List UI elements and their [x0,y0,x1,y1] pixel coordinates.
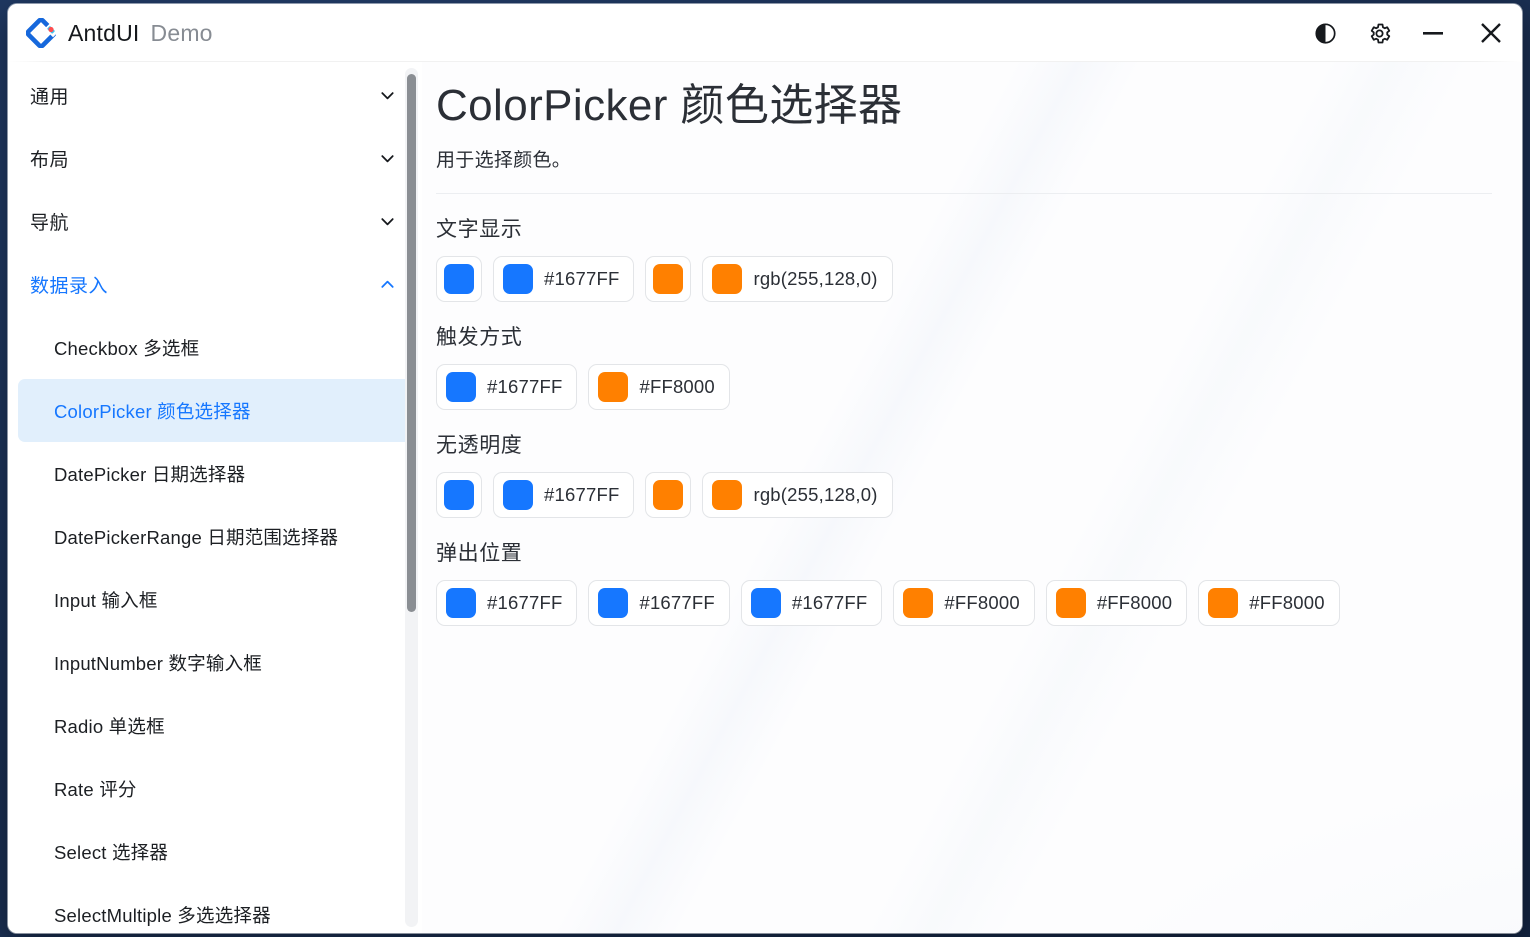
color-picker[interactable]: rgb(255,128,0) [702,256,892,302]
color-swatch [1208,588,1238,618]
color-picker[interactable]: #1677FF [741,580,882,626]
close-icon [1477,19,1505,47]
sidebar-item-9[interactable]: SelectMultiple 多选选择器 [18,883,412,933]
section-title: 文字显示 [436,213,1492,243]
gear-icon [1367,21,1392,46]
color-swatch [598,588,628,618]
sidebar-group-3[interactable]: 数据录入 [8,253,422,316]
color-swatch [503,264,533,294]
color-picker-row: #1677FFrgb(255,128,0) [436,256,1492,302]
sidebar-item-8[interactable]: Select 选择器 [18,820,412,883]
content-area: 通用布局导航数据录入Checkbox 多选框ColorPicker 颜色选择器D… [8,62,1522,933]
sidebar-item-label: InputNumber 数字输入框 [54,650,262,676]
sidebar-item-label: Checkbox 多选框 [54,335,199,361]
sidebar-group-label: 布局 [30,145,69,172]
chevron-down-icon[interactable] [379,213,396,230]
color-picker[interactable] [436,472,482,518]
color-swatch [653,480,683,510]
minimize-button[interactable] [1406,4,1460,62]
color-picker[interactable]: #1677FF [493,472,634,518]
page-title: ColorPicker 颜色选择器 [436,79,1492,133]
sidebar-item-4[interactable]: Input 输入框 [18,568,412,631]
sidebar-item-label: DatePicker 日期选择器 [54,461,245,487]
color-swatch [1056,588,1086,618]
color-picker[interactable]: #1677FF [436,580,577,626]
section-title: 弹出位置 [436,537,1492,567]
color-value-text: #1677FF [487,592,562,614]
color-picker[interactable]: rgb(255,128,0) [702,472,892,518]
color-swatch [903,588,933,618]
sidebar-scrollbar-track[interactable] [405,68,418,927]
sidebar-group-1[interactable]: 布局 [8,127,422,190]
color-picker-row: #1677FF#1677FF#1677FF#FF8000#FF8000#FF80… [436,580,1492,626]
chevron-down-icon[interactable] [379,87,396,104]
color-value-text: #1677FF [639,592,714,614]
title-bar: AntdUI Demo [8,4,1522,62]
sidebar-item-label: ColorPicker 颜色选择器 [54,398,251,424]
sidebar-item-label: Input 输入框 [54,587,158,613]
color-picker[interactable]: #FF8000 [1198,580,1339,626]
color-value-text: rgb(255,128,0) [753,484,877,506]
color-value-text: #1677FF [487,376,562,398]
main-panel: ColorPicker 颜色选择器 用于选择颜色。 文字显示#1677FFrgb… [422,62,1522,933]
section-title: 触发方式 [436,321,1492,351]
sidebar-item-label: Rate 评分 [54,776,137,802]
color-value-text: #1677FF [792,592,867,614]
sidebar-item-6[interactable]: Radio 单选框 [18,694,412,757]
color-picker[interactable]: #1677FF [436,364,577,410]
header-divider [436,193,1492,194]
sidebar-group-label: 通用 [30,82,69,109]
contrast-circle-icon [1314,22,1337,45]
color-swatch [598,372,628,402]
app-name: AntdUI [68,20,140,47]
sidebar-item-0[interactable]: Checkbox 多选框 [18,316,412,379]
sidebar-item-label: Radio 单选框 [54,713,165,739]
color-value-text: #1677FF [544,268,619,290]
color-picker[interactable]: #FF8000 [588,364,729,410]
sidebar-item-5[interactable]: InputNumber 数字输入框 [18,631,412,694]
close-button[interactable] [1460,4,1522,62]
window-controls [1298,4,1522,62]
sidebar-item-7[interactable]: Rate 评分 [18,757,412,820]
color-picker-row: #1677FF#FF8000 [436,364,1492,410]
color-swatch [712,264,742,294]
color-value-text: rgb(255,128,0) [753,268,877,290]
color-value-text: #FF8000 [639,376,714,398]
section-title: 无透明度 [436,429,1492,459]
color-swatch [444,480,474,510]
sidebar: 通用布局导航数据录入Checkbox 多选框ColorPicker 颜色选择器D… [8,62,422,933]
color-picker[interactable]: #FF8000 [893,580,1034,626]
color-picker[interactable]: #1677FF [588,580,729,626]
sidebar-item-3[interactable]: DatePickerRange 日期范围选择器 [18,505,412,568]
sidebar-item-label: Select 选择器 [54,839,168,865]
color-swatch [503,480,533,510]
color-swatch [653,264,683,294]
color-swatch [446,588,476,618]
chevron-up-icon[interactable] [379,276,396,293]
color-value-text: #1677FF [544,484,619,506]
color-picker[interactable]: #1677FF [493,256,634,302]
sidebar-item-label: SelectMultiple 多选选择器 [54,902,271,928]
app-subtitle: Demo [151,20,213,47]
sidebar-item-1[interactable]: ColorPicker 颜色选择器 [18,379,412,442]
color-swatch [751,588,781,618]
sidebar-group-label: 导航 [30,208,69,235]
color-picker[interactable]: #FF8000 [1046,580,1187,626]
color-value-text: #FF8000 [944,592,1019,614]
page-description: 用于选择颜色。 [436,145,1492,172]
color-swatch [712,480,742,510]
sidebar-group-2[interactable]: 导航 [8,190,422,253]
theme-toggle-button[interactable] [1298,4,1352,62]
color-picker[interactable] [436,256,482,302]
chevron-down-icon[interactable] [379,150,396,167]
color-value-text: #FF8000 [1249,592,1324,614]
color-picker[interactable] [645,472,691,518]
sidebar-nav-list: 通用布局导航数据录入Checkbox 多选框ColorPicker 颜色选择器D… [8,62,422,933]
antdui-logo-icon [26,18,56,48]
sidebar-group-0[interactable]: 通用 [8,64,422,127]
color-swatch [446,372,476,402]
color-picker[interactable] [645,256,691,302]
application-window: AntdUI Demo [8,4,1522,933]
minimize-icon [1421,27,1445,39]
sidebar-group-label: 数据录入 [30,271,108,298]
sidebar-item-label: DatePickerRange 日期范围选择器 [54,524,338,550]
sidebar-item-2[interactable]: DatePicker 日期选择器 [18,442,412,505]
sections-container: 文字显示#1677FFrgb(255,128,0)触发方式#1677FF#FF8… [436,213,1492,626]
color-picker-row: #1677FFrgb(255,128,0) [436,472,1492,518]
sidebar-scrollbar-thumb[interactable] [407,74,416,612]
color-swatch [444,264,474,294]
color-value-text: #FF8000 [1097,592,1172,614]
settings-button[interactable] [1352,4,1406,62]
